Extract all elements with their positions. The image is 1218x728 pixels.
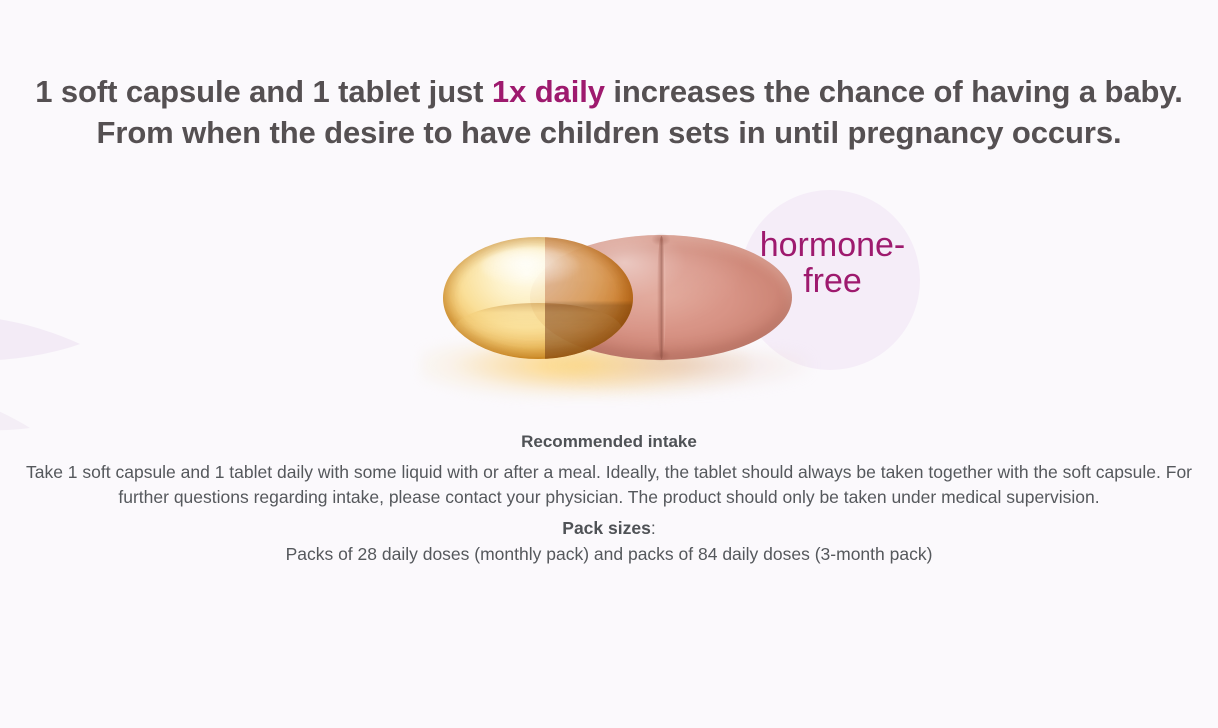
soft-capsule-image	[443, 237, 633, 359]
page-headline: 1 soft capsule and 1 tablet just 1x dail…	[0, 71, 1218, 153]
recommended-intake-heading: Recommended intake	[0, 430, 1218, 454]
hormone-free-badge-label: hormone- free	[745, 227, 920, 299]
pack-sizes-colon: :	[651, 518, 656, 538]
intake-copy-block: Recommended intake Take 1 soft capsule a…	[0, 430, 1218, 567]
recommended-intake-paragraph: Take 1 soft capsule and 1 tablet daily w…	[0, 460, 1218, 510]
tablet-notch-bottom	[651, 349, 671, 362]
headline-accent-1x-daily: 1x daily	[492, 74, 605, 109]
product-image-group: hormone- free	[400, 175, 960, 420]
product-info-page: 1 soft capsule and 1 tablet just 1x dail…	[0, 0, 1218, 728]
tablet-score-line	[657, 236, 666, 359]
pack-sizes-value: Packs of 28 daily doses (monthly pack) a…	[0, 541, 1218, 567]
headline-text-part1: 1 soft capsule and 1 tablet just	[35, 74, 492, 109]
tablet-notch-top	[651, 233, 671, 246]
pack-sizes-label: Pack sizes	[562, 518, 651, 538]
decorative-petal-shapes	[0, 300, 140, 450]
pack-sizes-label-line: Pack sizes:	[0, 515, 1218, 541]
capsule-rim	[443, 237, 633, 359]
